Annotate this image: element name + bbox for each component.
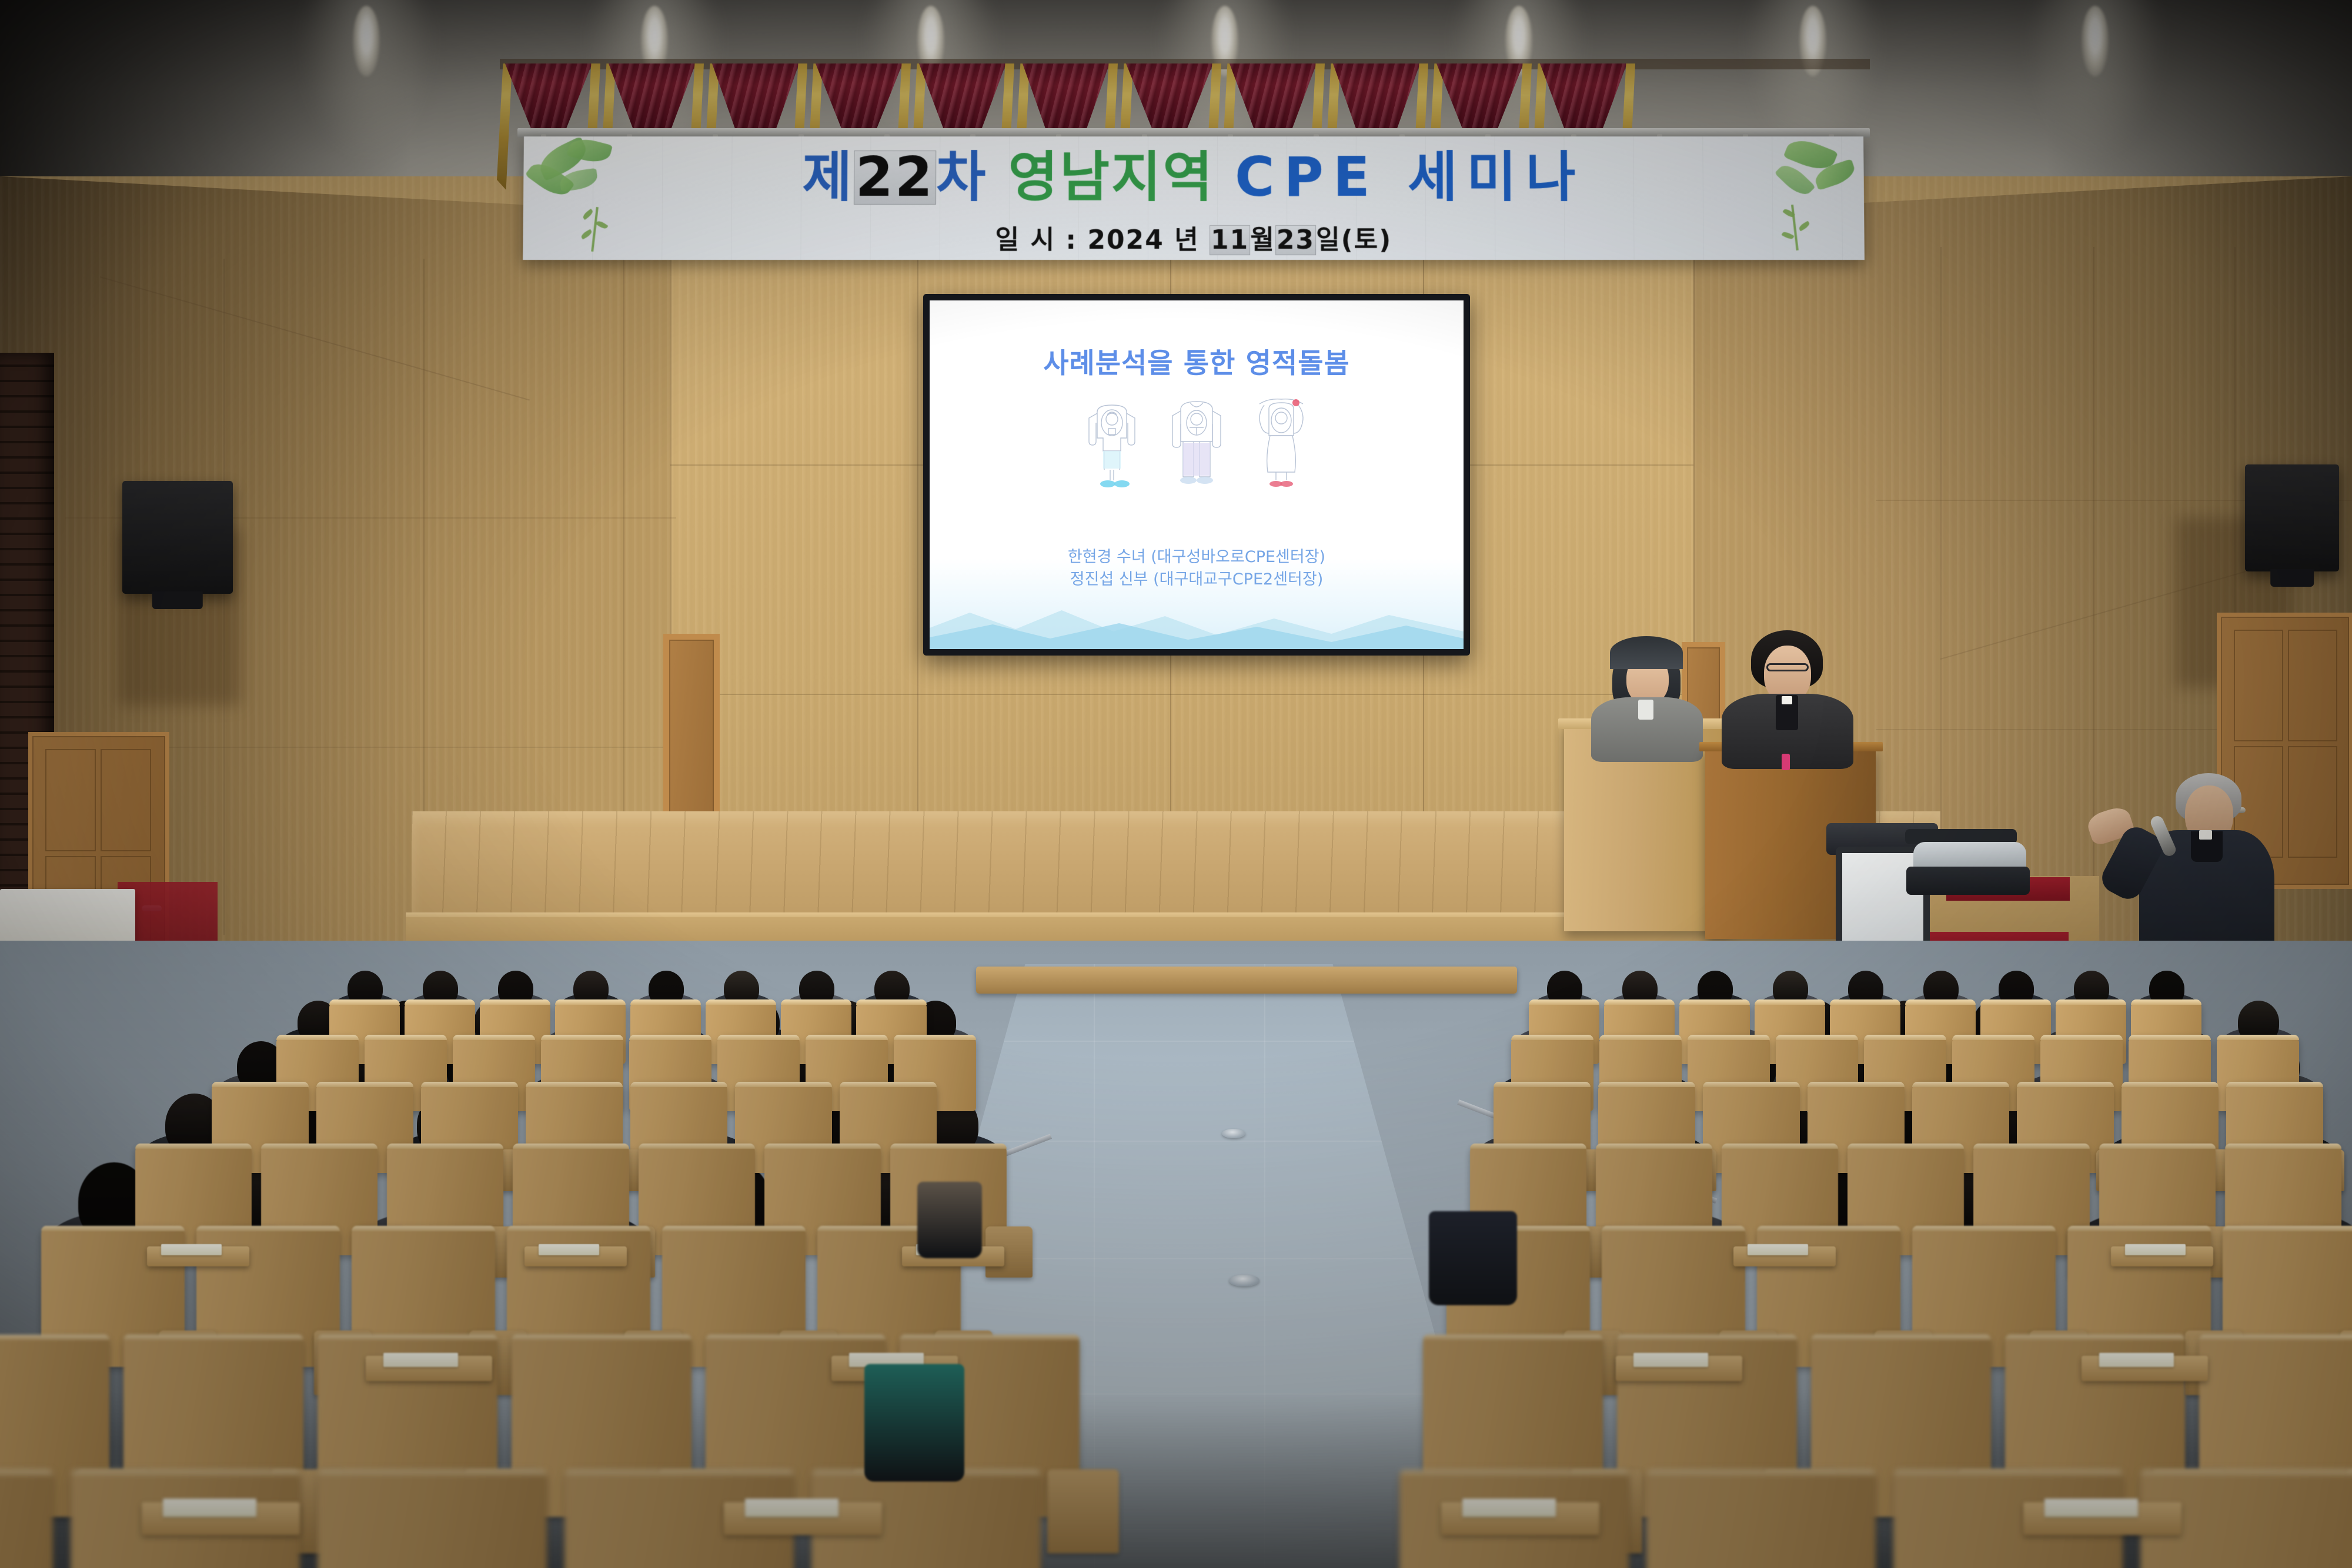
handout-paper: [745, 1499, 838, 1517]
seat-armrest[interactable]: [1047, 1469, 1119, 1553]
handout-paper: [163, 1499, 256, 1517]
standing-speaker-collar-icon: [2199, 830, 2212, 840]
front-bench: [976, 967, 1517, 994]
banner-title-main: CPE 세미나: [1235, 146, 1585, 209]
banner-date-day: 23: [1275, 225, 1316, 255]
keyboard-case-icon: [1913, 842, 2026, 869]
downlight-icon: [353, 6, 380, 76]
aisle-bag-left[interactable]: [917, 1182, 982, 1258]
handout-paper: [2099, 1353, 2174, 1367]
downlight-icon: [2082, 6, 2109, 76]
handout-paper: [1462, 1499, 1556, 1517]
banner-date-month: 11: [1210, 225, 1250, 255]
aisle-bag-green[interactable]: [864, 1364, 964, 1482]
wall-seam-horizontal: [670, 694, 1693, 695]
handout-paper: [161, 1244, 222, 1255]
auditorium-seat[interactable]: [318, 1470, 547, 1568]
clerical-collar-icon: [1782, 696, 1792, 704]
handout-paper: [1633, 1353, 1708, 1367]
banner-title-prefix: 제: [802, 146, 854, 209]
figure-adult-icon: [1164, 394, 1229, 494]
handout-paper: [2125, 1244, 2186, 1255]
projection-screen-frame: 사례분석을 통한 영적돌봄: [923, 294, 1470, 656]
microphone-on-lectern-icon: [1782, 754, 1790, 770]
slide-illustration: [930, 394, 1464, 494]
banner-date-label: 일 시 :: [995, 225, 1077, 255]
slide-presenters: 한현경 수녀 (대구성바오로CPE센터장) 정진섭 신부 (대구대교구CPE2센…: [930, 546, 1464, 591]
slide-presenter-2: 정진섭 신부 (대구대교구CPE2센터장): [930, 569, 1464, 591]
event-banner: 제22차 영남지역 CPE 세미나 일 시 : 2024 년 11월23일(토): [523, 136, 1865, 260]
wall-seam-vertical: [2093, 247, 2094, 905]
banner-title: 제22차 영남지역 CPE 세미나: [523, 151, 1864, 205]
aisle-bag-right[interactable]: [1429, 1211, 1517, 1305]
banner-date-day-unit: 일(토): [1316, 225, 1392, 255]
handout-paper: [2044, 1499, 2138, 1517]
glasses-icon: [1766, 663, 1809, 671]
auditorium-seat[interactable]: [1646, 1470, 1876, 1568]
projection-screen: 사례분석을 통한 영적돌봄: [930, 300, 1464, 649]
banner-date-month-unit: 월: [1250, 225, 1275, 255]
keyboard-case-base-icon: [1906, 867, 2030, 895]
floor-outlet-lower: [1229, 1275, 1259, 1286]
figure-woman-icon: [1249, 394, 1314, 494]
banner-title-region: 영남지역: [1008, 146, 1214, 209]
wall-seam-vertical: [1940, 247, 1942, 905]
banner-title-suffix: 차: [936, 146, 988, 209]
handout-paper: [539, 1244, 599, 1255]
wall-speaker-right-icon: [2245, 464, 2339, 571]
handout-paper: [383, 1353, 458, 1367]
figure-child-icon: [1080, 394, 1144, 494]
wall-speaker-left-icon: [122, 481, 233, 594]
banner-date: 일 시 : 2024 년 11월23일(토): [523, 219, 1865, 256]
auditorium-photograph: 제22차 영남지역 CPE 세미나 일 시 : 2024 년 11월23일(토)…: [0, 0, 2352, 1568]
banner-date-year-unit: 년: [1174, 225, 1200, 255]
handout-paper: [1748, 1244, 1808, 1255]
slide-title: 사례분석을 통한 영적돌봄: [930, 340, 1464, 381]
floor-outlet-upper: [1222, 1129, 1245, 1138]
slide-background-hills: [930, 593, 1464, 649]
slide-presenter-1: 한현경 수녀 (대구성바오로CPE센터장): [930, 546, 1464, 569]
banner-title-number: 22: [854, 151, 936, 205]
auditorium-seat[interactable]: [0, 1470, 53, 1568]
banner-date-year: 2024: [1087, 225, 1164, 255]
